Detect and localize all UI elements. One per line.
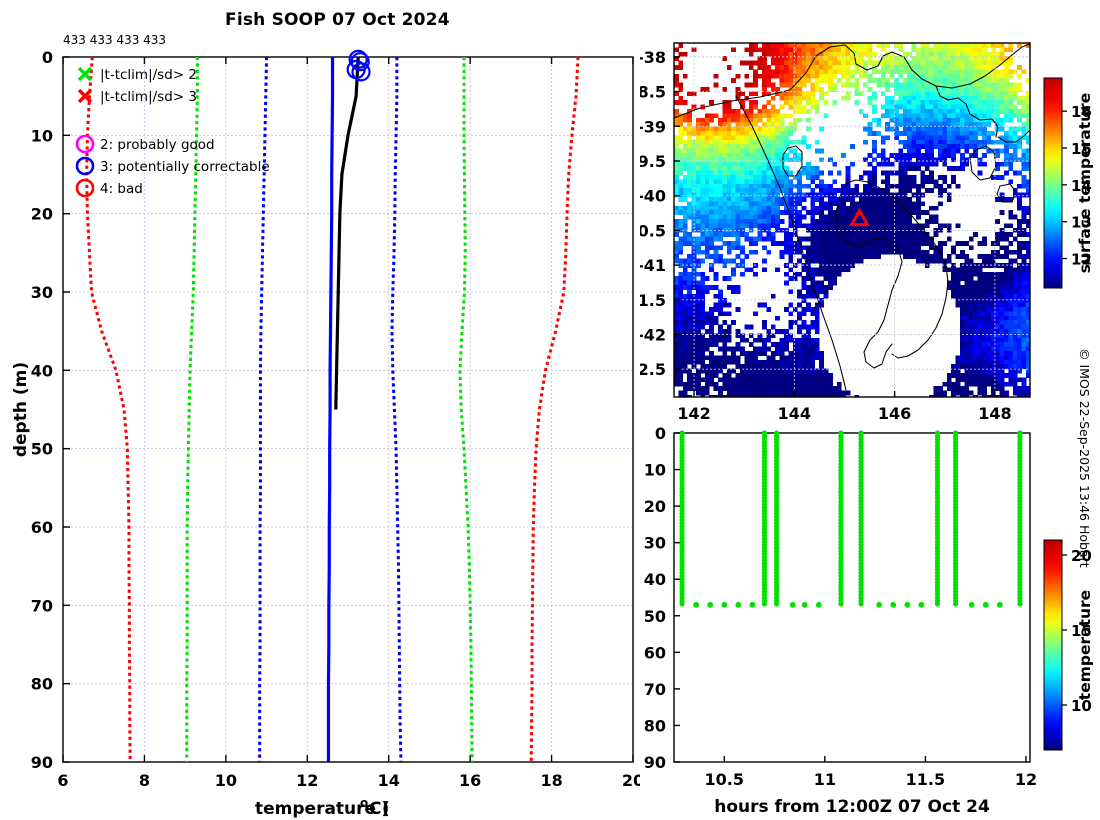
section-data-point: [679, 601, 684, 606]
section-track-point: [693, 602, 699, 608]
profile-ytick: 30: [31, 283, 53, 302]
section-track-point: [969, 602, 975, 608]
section-track-point: [890, 602, 896, 608]
legend-label: |t-tclim|/sd> 2: [100, 67, 197, 83]
legend-item-3-potentially-correctable[interactable]: 3: potentially correctable: [77, 158, 270, 175]
profile-xtick: 14: [378, 771, 400, 790]
section-track-point: [790, 602, 796, 608]
temperature-colorbar: [1044, 540, 1062, 750]
section-track-point: [918, 602, 924, 608]
depth-time-section-panel[interactable]: 10.51111.5120102030405060708090hours fro…: [640, 420, 1100, 820]
map-ytick: -40: [640, 187, 666, 206]
section-ytick: 40: [644, 570, 666, 589]
sst-colorbar-label: surface temperature: [1076, 93, 1094, 274]
section-ytick: 10: [644, 461, 666, 480]
section-data-point: [1017, 601, 1022, 606]
section-xlabel: hours from 12:00Z 07 Oct 24: [714, 797, 990, 817]
profile-ylabel: depth (m): [11, 362, 31, 457]
profile-ytick: 60: [31, 518, 53, 537]
profile-xtick: 16: [459, 771, 481, 790]
section-track-point: [802, 602, 808, 608]
profile-ytick: 40: [31, 361, 53, 380]
legend-item-4-bad[interactable]: 4: bad: [77, 180, 143, 197]
profile-series-climatology-1sd: [392, 57, 401, 762]
profile-series-observed-profile: [336, 57, 358, 410]
section-ylabel: depth (m): [640, 550, 641, 645]
profile-xlabel-unit: C): [369, 799, 389, 819]
section-ytick: 70: [644, 680, 666, 699]
map-ytick: -42.5: [640, 360, 666, 379]
section-xtick: 10.5: [705, 770, 744, 789]
section-ytick: 80: [644, 716, 666, 735]
profile-ytick: 20: [31, 205, 53, 224]
legend-label: 3: potentially correctable: [100, 159, 270, 175]
profile-xtick: 8: [139, 771, 150, 790]
section-track-point: [735, 602, 741, 608]
flagged-point-marker: [353, 63, 370, 80]
degree-symbol: o: [360, 796, 368, 810]
section-data-point: [953, 601, 958, 606]
legend-item-t-tclim-sd-2[interactable]: |t-tclim|/sd> 2: [79, 67, 197, 83]
map-ytick: -42: [640, 326, 666, 345]
legend-item-2-probably-good[interactable]: 2: probably good: [77, 136, 215, 153]
section-ytick: 30: [644, 534, 666, 553]
profile-ytick: 0: [42, 48, 53, 67]
section-plot[interactable]: 10.51111.5120102030405060708090hours fro…: [640, 420, 1100, 820]
profile-xtick: 20: [622, 771, 640, 790]
profile-xtick: 18: [540, 771, 562, 790]
profile-series-climatology-mean: [328, 57, 332, 762]
section-ytick: 20: [644, 497, 666, 516]
map-ytick: -41: [640, 256, 666, 275]
section-data-point: [774, 601, 779, 606]
sst-map-plot[interactable]: 142144146148-38-38.5-39-39.5-40-40.5-41-…: [640, 0, 1100, 430]
section-track-point: [721, 602, 727, 608]
map-ytick: -39: [640, 117, 666, 136]
section-ytick: 50: [644, 607, 666, 626]
map-ytick: -38.5: [640, 83, 666, 102]
section-data-point: [838, 601, 843, 606]
profile-xtick: 6: [57, 771, 68, 790]
section-xtick: 11: [814, 770, 836, 789]
profile-series-climatology-3sd: [531, 57, 578, 762]
sst-colorbar: [1044, 78, 1062, 288]
section-ytick: 60: [644, 643, 666, 662]
section-data-point: [935, 601, 940, 606]
map-ytick: -40.5: [640, 221, 666, 240]
profile-ytick: 80: [31, 675, 53, 694]
profile-plot[interactable]: 681012141618200102030405060708090tempera…: [0, 0, 640, 820]
profile-xtick: 10: [215, 771, 237, 790]
map-ytick: -41.5: [640, 291, 666, 310]
section-ytick: 0: [655, 424, 666, 443]
temperature-depth-profile-panel[interactable]: 681012141618200102030405060708090tempera…: [0, 0, 640, 820]
section-track-point: [876, 602, 882, 608]
section-track-point: [707, 602, 713, 608]
section-track-point: [750, 602, 756, 608]
profile-ytick: 70: [31, 596, 53, 615]
section-data-point: [858, 601, 863, 606]
temperature-colorbar-label: temperature: [1076, 590, 1094, 700]
sst-map-panel[interactable]: 142144146148-38-38.5-39-39.5-40-40.5-41-…: [640, 0, 1100, 430]
profile-ytick: 90: [31, 753, 53, 772]
legend-label: 4: bad: [100, 181, 143, 197]
profile-ytick: 50: [31, 440, 53, 459]
map-ytick: -38: [640, 48, 666, 67]
credit-label: © IMOS 22-Sep-2025 13:46 Hobart: [1077, 348, 1092, 568]
section-track-point: [904, 602, 910, 608]
section-track-point: [816, 602, 822, 608]
legend-label: |t-tclim|/sd> 3: [100, 89, 197, 105]
legend-label: 2: probably good: [100, 137, 215, 153]
profile-ytick: 10: [31, 126, 53, 145]
profile-xtick: 12: [296, 771, 318, 790]
section-data-point: [762, 601, 767, 606]
section-track-point: [997, 602, 1003, 608]
section-xtick: 11.5: [906, 770, 945, 789]
section-track-point: [983, 602, 989, 608]
legend-item-t-tclim-sd-3[interactable]: |t-tclim|/sd> 3: [79, 89, 197, 105]
map-ytick: -39.5: [640, 152, 666, 171]
section-ytick: 90: [644, 753, 666, 772]
section-xtick: 12: [1015, 770, 1037, 789]
